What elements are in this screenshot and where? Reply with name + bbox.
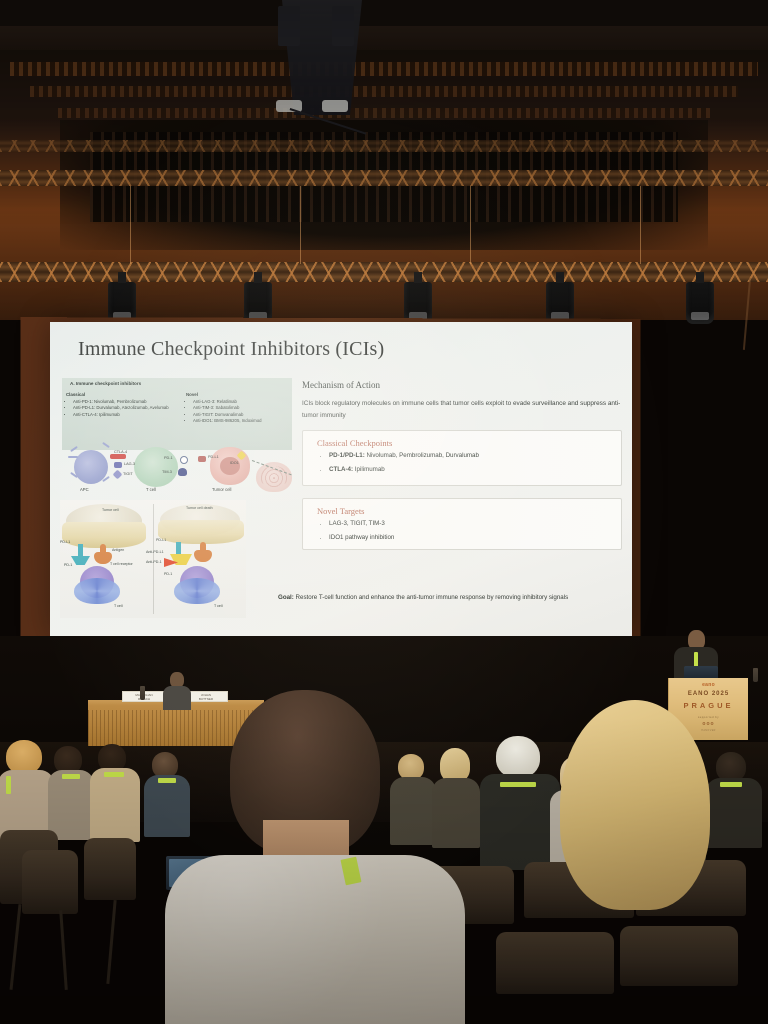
label-tcell-right: T cell — [214, 604, 223, 608]
label-apc: APC — [80, 487, 89, 492]
figure-col-novel-list: Anti-LAG-3: Relatlimab Anti-TIM-3: Sabat… — [186, 399, 290, 425]
list-item: Anti-IDO1: BMS-986205, Indoximod — [193, 418, 290, 424]
receptor-tigit — [113, 470, 123, 480]
seat-leg — [59, 910, 68, 990]
label-ctla4: CTLA-4 — [114, 450, 127, 454]
stage-light-5 — [686, 282, 714, 324]
label-pd1-right: PD-1 — [164, 572, 172, 576]
label-tcell-left: T cell — [114, 604, 123, 608]
auditorium-scene: Immune Checkpoint Inhibitors (ICIs) A. I… — [0, 0, 768, 1024]
water-bottle-table — [140, 686, 145, 700]
receptor-ctla4 — [110, 454, 126, 459]
label-antigen-left: Antigen — [112, 548, 124, 552]
label-pd1: PD-1 — [164, 456, 173, 460]
label-ido1: IDO1 — [230, 461, 239, 465]
label-pdl1-right: PD-L1 — [156, 538, 166, 542]
term: PD-1/PD-L1: — [329, 452, 365, 459]
person-lanyard — [500, 782, 536, 787]
person-body — [480, 774, 560, 870]
foreground-hair — [560, 700, 710, 910]
label-anti-pdl1: Anti-PD-L1 — [146, 550, 164, 554]
ceiling-band-3 — [58, 108, 710, 118]
foreground-person — [175, 690, 445, 1024]
person-lanyard — [62, 774, 80, 779]
label-tcr-left: T cell receptor — [110, 562, 133, 566]
presentation-slide: Immune Checkpoint Inhibitors (ICIs) A. I… — [50, 322, 632, 637]
list-item: Anti-CTLA-4: Ipilimumab — [73, 412, 184, 418]
apc-spike-2 — [70, 446, 78, 452]
label-tim3: TIM-3 — [162, 470, 172, 474]
truss-rope-1 — [130, 186, 131, 264]
label-pd1-left: PD-1 — [64, 563, 72, 567]
lighting-truss-upper — [0, 140, 768, 152]
person-lanyard — [6, 776, 11, 794]
water-bottle-podium — [753, 668, 758, 682]
truss-rope-2 — [300, 186, 301, 264]
ceiling-slab-2 — [0, 26, 768, 50]
list-item: Anti-PD-L1: Durvalumab, Atezolizumab, Av… — [73, 405, 184, 411]
seat-leg — [10, 904, 22, 990]
auditorium-seat — [22, 850, 78, 914]
t-cell-icon — [134, 447, 178, 487]
classical-box-list: PD-1/PD-L1: Nivolumab, Pembrolizumab, Du… — [329, 453, 479, 481]
t-lymphocyte-ring-left — [74, 578, 120, 604]
rig-box-right — [332, 6, 354, 46]
tumor-slab-right — [158, 520, 244, 544]
receptor-tim3 — [178, 468, 187, 476]
lighting-truss-front — [0, 262, 768, 282]
ceiling-band-2 — [30, 86, 738, 97]
rig-lamp-right — [322, 100, 348, 112]
person-body — [90, 768, 140, 842]
classical-box-title: Classical Checkpoints — [317, 438, 392, 448]
tumor-nucleus-icon — [220, 457, 240, 475]
classical-checkpoints-box: Classical Checkpoints PD-1/PD-L1: Nivolu… — [302, 430, 622, 486]
label-tumor-cell-death: Tumor cell death — [186, 506, 216, 510]
label-tumorcell: Tumor cell — [212, 487, 231, 492]
term-rest: LAG-3, TIGIT, TIM-3 — [329, 520, 385, 527]
seat-leg — [106, 900, 116, 984]
term-rest: Ipilimumab — [353, 466, 385, 473]
term-rest: Nivolumab, Pembrolizumab, Durvalumab — [365, 452, 479, 459]
auditorium-seat — [84, 838, 136, 900]
brain-inset-icon — [256, 462, 292, 492]
receptor-lag3 — [114, 462, 122, 468]
novel-targets-box: Novel Targets LAG-3, TIGIT, TIM-3 IDO1 p… — [302, 498, 622, 550]
mechanism-body: ICIs block regulatory molecules on immun… — [302, 398, 622, 422]
label-tumor-cell-left: Tumor cell — [102, 508, 119, 512]
goal-label: Goal: — [278, 594, 294, 601]
list-item: LAG-3, TIGIT, TIM-3 — [329, 521, 394, 528]
label-pdl1: PD-L1 — [208, 455, 219, 459]
person-head — [6, 740, 42, 774]
pd1-wedge-left — [71, 556, 90, 565]
term-rest: IDO1 pathway inhibition — [329, 534, 394, 541]
list-item: IDO1 pathway inhibition — [329, 535, 394, 542]
slide-title: Immune Checkpoint Inhibitors (ICIs) — [78, 338, 384, 361]
person-lanyard — [158, 778, 176, 783]
label-lag3: LAG-3 — [124, 462, 135, 466]
figure-col-novel-label: Novel — [186, 392, 198, 397]
person-body — [48, 770, 94, 840]
podium-brand: eano — [669, 682, 748, 688]
mechanism-heading: Mechanism of Action — [302, 380, 380, 390]
label-pdl1-left: PD-L1 — [60, 540, 70, 544]
term: CTLA-4: — [329, 466, 353, 473]
figure-divider — [153, 504, 154, 614]
novel-box-list: LAG-3, TIGIT, TIM-3 IDO1 pathway inhibit… — [329, 521, 394, 549]
t-lymphocyte-ring-right — [174, 578, 220, 604]
figure-col-classical-list: Anti-PD-1: Nivolumab, Pembrolizumab Anti… — [66, 399, 184, 418]
podium-event: EANO 2025 — [669, 691, 748, 697]
truss-rope-4 — [640, 186, 641, 264]
checkpoint-cell-diagram: CTLA-4 LAG-3 TIGIT PD-1 TIM-3 PD-L1 IDO1… — [62, 440, 292, 496]
foreground-person-right — [560, 700, 768, 1024]
truss-rope-3 — [470, 186, 471, 264]
ceiling-slab-top — [0, 0, 768, 26]
person-lanyard — [104, 772, 124, 777]
receptor-pd1 — [180, 456, 188, 464]
foreground-shirt — [165, 855, 465, 1024]
label-anti-pd1: Anti-PD-1 — [146, 560, 162, 564]
ceiling-band-1 — [10, 62, 758, 76]
antigen-wedge-right — [194, 550, 212, 562]
novel-box-title: Novel Targets — [317, 506, 365, 516]
list-item: CTLA-4: Ipilimumab — [329, 467, 479, 474]
figure-a-heading: A. Immune checkpoint inhibitors — [70, 381, 141, 386]
pdl1-stalk-right — [176, 542, 181, 556]
figure-col-classical-label: Classical — [66, 392, 85, 397]
person-head — [496, 736, 540, 778]
lower-figure: Tumor cell PD-L1 PD-1 Antigen T cell rec… — [60, 500, 246, 618]
goal-text: Restore T-cell function and enhance the … — [294, 594, 568, 601]
label-tcell: T cell — [146, 487, 156, 492]
lighting-truss-rear — [0, 170, 768, 186]
apc-spike-4 — [102, 442, 110, 448]
rig-box-left — [278, 6, 300, 46]
label-tigit: TIGIT — [123, 472, 133, 476]
apc-spike-1 — [68, 456, 78, 458]
receptor-pdl1 — [198, 456, 206, 462]
goal-statement: Goal: Restore T-cell function and enhanc… — [278, 594, 628, 601]
list-item: PD-1/PD-L1: Nivolumab, Pembrolizumab, Du… — [329, 453, 479, 460]
